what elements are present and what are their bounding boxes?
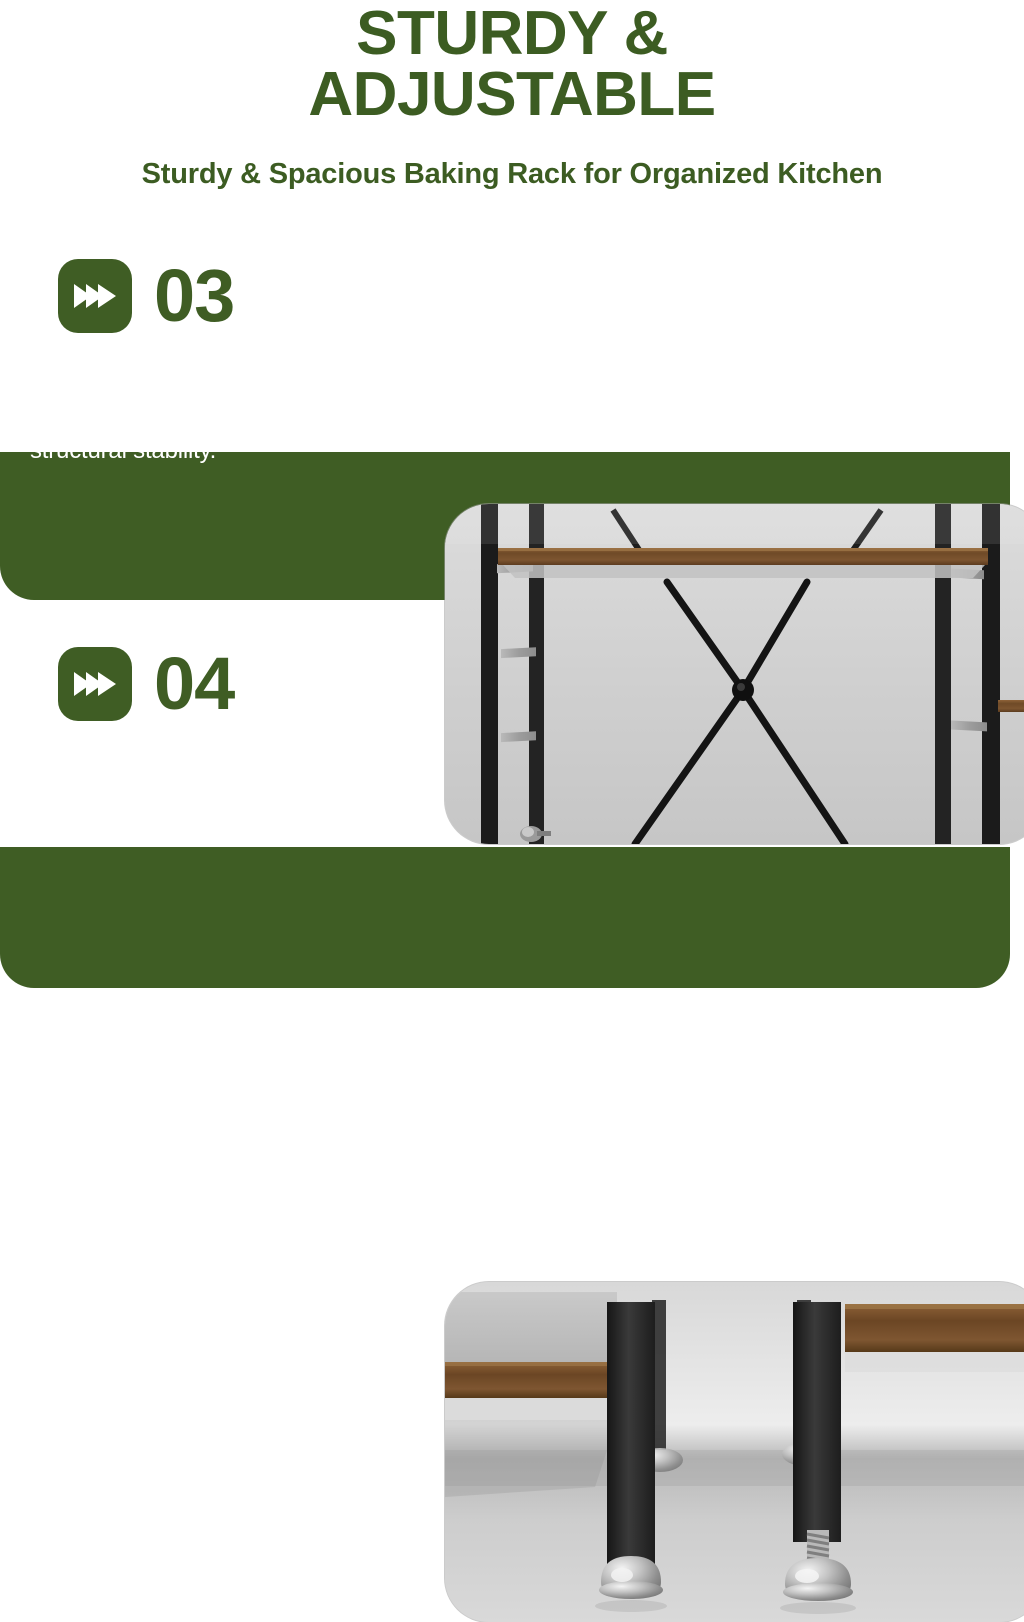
- feature-number-row-04: 04: [0, 628, 400, 740]
- feature-number-row-03: 03: [0, 240, 400, 352]
- feature-card-03: 03 X-Shaped Crossbar X shaped crossbar i…: [0, 240, 1024, 605]
- feature-title-04: Adjustable Feet: [30, 754, 390, 791]
- feature-image-03: [445, 504, 1024, 844]
- feature-text-column-03: 03 X-Shaped Crossbar X shaped crossbar i…: [0, 240, 400, 465]
- feature-text-block-03: X-Shaped Crossbar X shaped crossbar is f…: [0, 352, 400, 465]
- page-title: STURDY & ADJUSTABLE: [0, 4, 1024, 126]
- page-subtitle: Sturdy & Spacious Baking Rack for Organi…: [0, 126, 1024, 191]
- feature-banner-04: [0, 847, 1010, 988]
- feature-description-03: X shaped crossbar is for more structural…: [30, 409, 360, 466]
- page-title-line-1: STURDY &: [356, 0, 668, 68]
- feature-number-04: 04: [154, 647, 234, 721]
- feature-image-04: [445, 1282, 1024, 1622]
- page-header: STURDY & ADJUSTABLE Sturdy & Spacious Ba…: [0, 0, 1024, 191]
- feature-text-block-04: Adjustable Feet adjustable feet stabiliz…: [0, 740, 400, 853]
- feature-number-03: 03: [154, 259, 234, 333]
- fast-forward-icon: [58, 259, 132, 333]
- feature-description-04: adjustable feet stabilize on uneven floo…: [30, 797, 360, 854]
- feature-text-column-04: 04 Adjustable Feet adjustable feet stabi…: [0, 628, 400, 853]
- fast-forward-icon: [58, 647, 132, 721]
- feature-title-03: X-Shaped Crossbar: [30, 366, 390, 403]
- page-title-line-2: ADJUSTABLE: [30, 65, 994, 126]
